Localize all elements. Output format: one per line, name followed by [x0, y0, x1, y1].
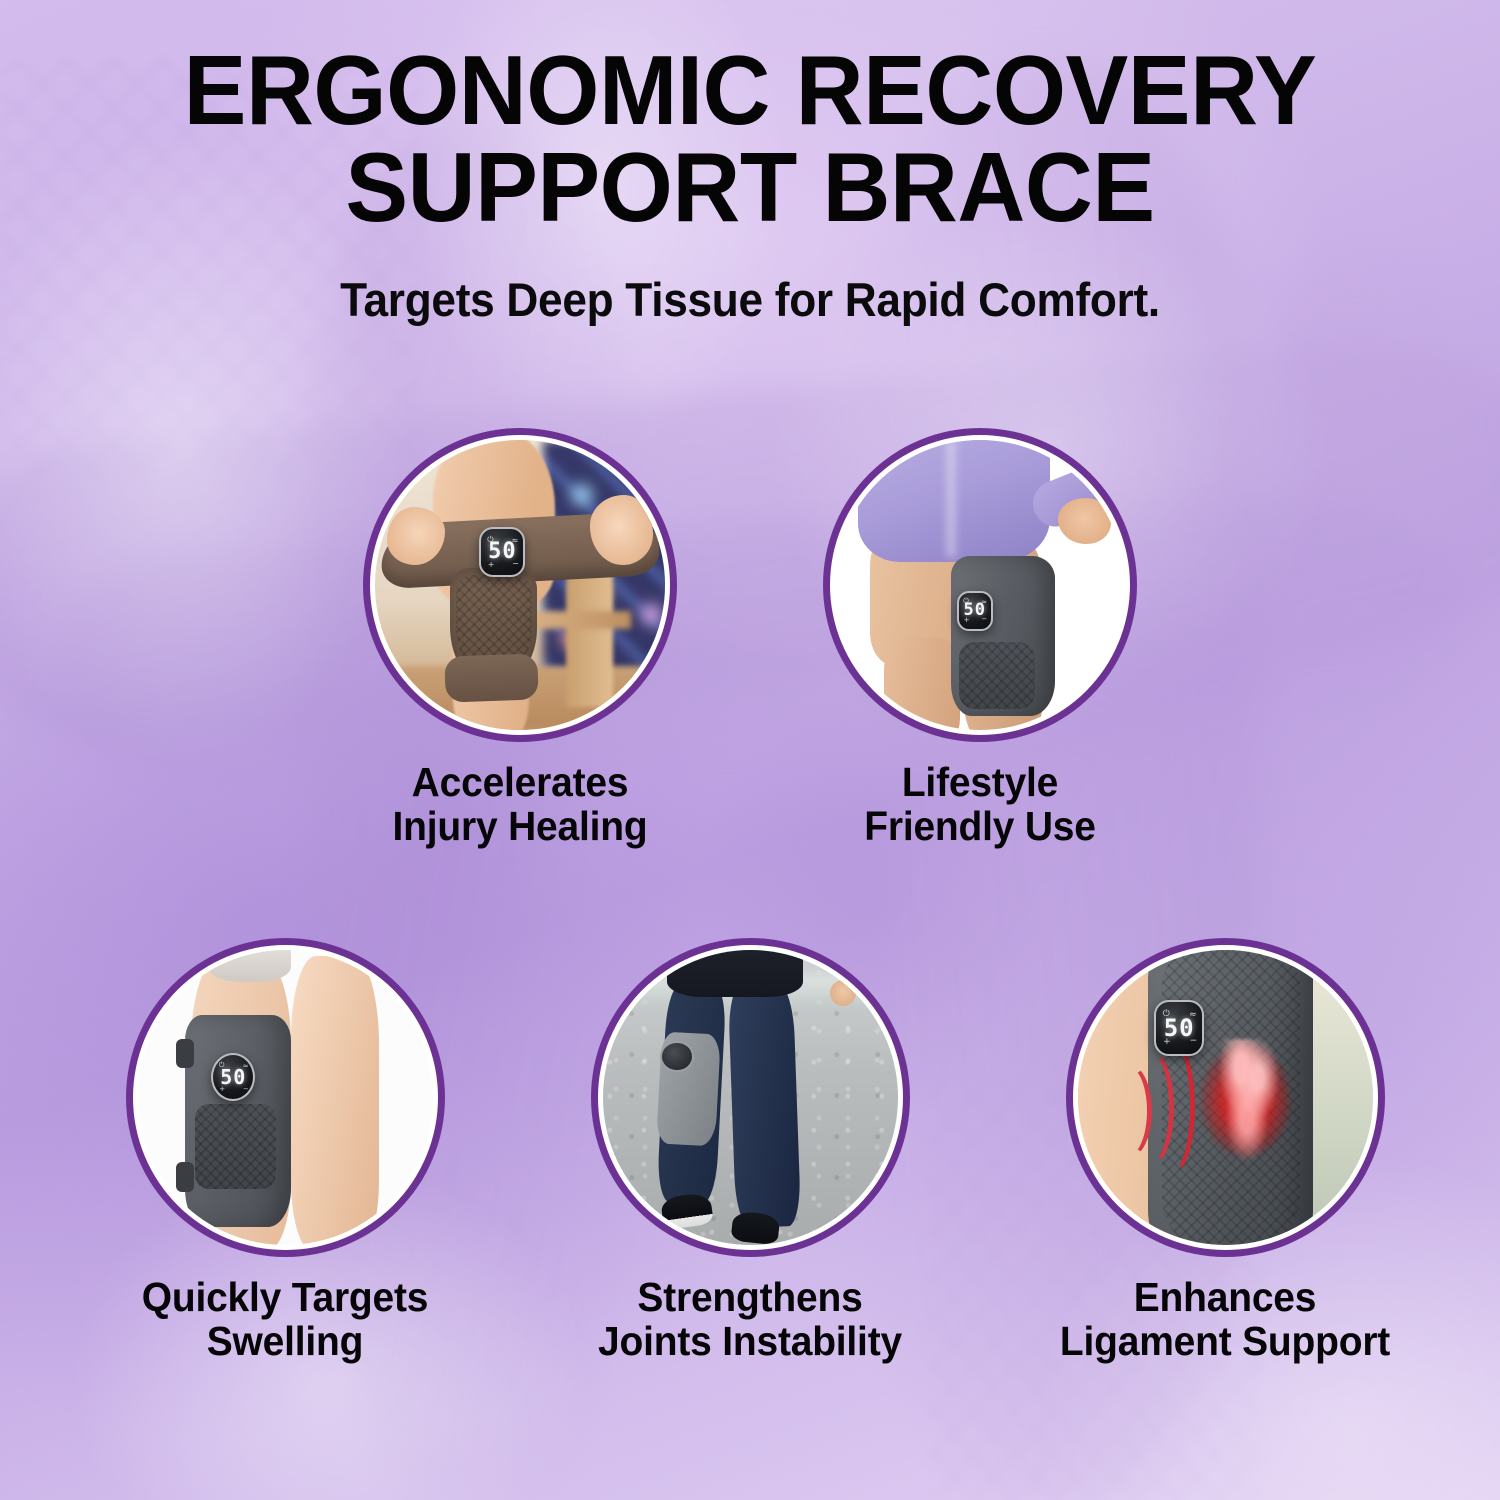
- feature-strengthens-joints-instability: Strengthens Joints Instability: [520, 945, 980, 1364]
- feature-caption: Strengthens Joints Instability: [532, 1276, 969, 1364]
- minus-icon: −: [512, 560, 519, 568]
- feature-enhances-ligament-support: ⏻ ≈ 50 + − Enhances Ligament Support: [995, 945, 1455, 1364]
- page-title-line-1: ERGONOMIC RECOVERY: [30, 42, 1470, 139]
- feature-caption: Accelerates Injury Healing: [306, 761, 734, 849]
- feature-accelerates-injury-healing: ⏻ ≈ 50 + − Accelerates Injury Healing: [295, 435, 745, 849]
- feature-caption: Enhances Ligament Support: [1007, 1276, 1444, 1364]
- feature-quickly-targets-swelling: ⏻ ≈ 50 + − Quickly Targets Swelling: [55, 945, 515, 1364]
- photo-dark-coat: [667, 950, 803, 997]
- minus-icon: −: [243, 1086, 249, 1093]
- device-display-pod: [660, 1041, 694, 1072]
- plus-icon: +: [1163, 1038, 1171, 1047]
- mode-icon: ≈: [243, 1063, 249, 1070]
- mode-icon: ≈: [512, 537, 519, 545]
- minus-icon: −: [1190, 1037, 1198, 1046]
- photo-hand: [1058, 498, 1110, 544]
- device-display-pod: ⏻ ≈ 50 + −: [957, 591, 993, 631]
- power-icon: ⏻: [1163, 1010, 1170, 1019]
- photo-jeans-right: [728, 984, 801, 1228]
- mode-icon: ≈: [981, 599, 987, 606]
- power-icon: ⏻: [487, 536, 493, 544]
- device-display-pod: ⏻ ≈ 50 + −: [479, 527, 525, 577]
- mode-icon: ≈: [1189, 1011, 1197, 1020]
- page-subtitle: Targets Deep Tissue for Rapid Comfort.: [45, 276, 1455, 323]
- photo-hand: [830, 980, 857, 1007]
- feature-photo-enhances-ligament-support: ⏻ ≈ 50 + −: [1078, 950, 1373, 1245]
- plus-icon: +: [964, 617, 970, 624]
- page-title-line-2: SUPPORT BRACE: [30, 139, 1470, 236]
- photo-purple-shorts: [858, 440, 1049, 562]
- device-display-pod: ⏻ ≈ 50 + −: [1154, 1000, 1204, 1056]
- photo-brace-tab-upper: [176, 1039, 194, 1069]
- feature-photo-accelerates-injury-healing: ⏻ ≈ 50 + −: [375, 440, 665, 730]
- heading-block: ERGONOMIC RECOVERY SUPPORT BRACE Targets…: [0, 42, 1500, 323]
- photo-brace-lower-strap: [444, 653, 538, 703]
- product-infographic-poster: ERGONOMIC RECOVERY SUPPORT BRACE Targets…: [0, 0, 1500, 1500]
- feature-image-circle: ⏻ ≈ 50 + −: [830, 435, 1130, 735]
- feature-caption: Lifestyle Friendly Use: [776, 761, 1185, 849]
- joint-anatomy-overlay: [1210, 1039, 1287, 1169]
- photo-calf: [884, 637, 959, 730]
- feature-image-circle: ⏻ ≈ 50 + −: [370, 435, 670, 735]
- feature-image-circle: ⏻ ≈ 50 + −: [1073, 945, 1378, 1250]
- photo-right-leg: [291, 956, 380, 1245]
- photo-grey-brace: [951, 556, 1055, 716]
- feature-image-circle: [598, 945, 903, 1250]
- power-icon: ⏻: [963, 598, 969, 605]
- photo-brace-tab-lower: [176, 1162, 194, 1192]
- feature-photo-quickly-targets-swelling: ⏻ ≈ 50 + −: [138, 950, 433, 1245]
- feature-image-circle: ⏻ ≈ 50 + −: [133, 945, 438, 1250]
- feature-photo-lifestyle-friendly-use: ⏻ ≈ 50 + −: [835, 440, 1125, 730]
- feature-lifestyle-friendly-use: ⏻ ≈ 50 + − Lifestyle Friendly Use: [765, 435, 1195, 849]
- plus-icon: +: [488, 561, 495, 569]
- photo-hand-right: [590, 495, 654, 565]
- feature-photo-strengthens-joints-instability: [603, 950, 898, 1245]
- minus-icon: −: [981, 616, 987, 623]
- power-icon: ⏻: [219, 1062, 225, 1069]
- photo-grey-brace: [185, 1015, 291, 1227]
- photo-shorts-hem: [208, 950, 291, 982]
- photo-chair: [566, 562, 612, 707]
- feature-caption: Quickly Targets Swelling: [67, 1276, 504, 1364]
- plus-icon: +: [219, 1086, 225, 1093]
